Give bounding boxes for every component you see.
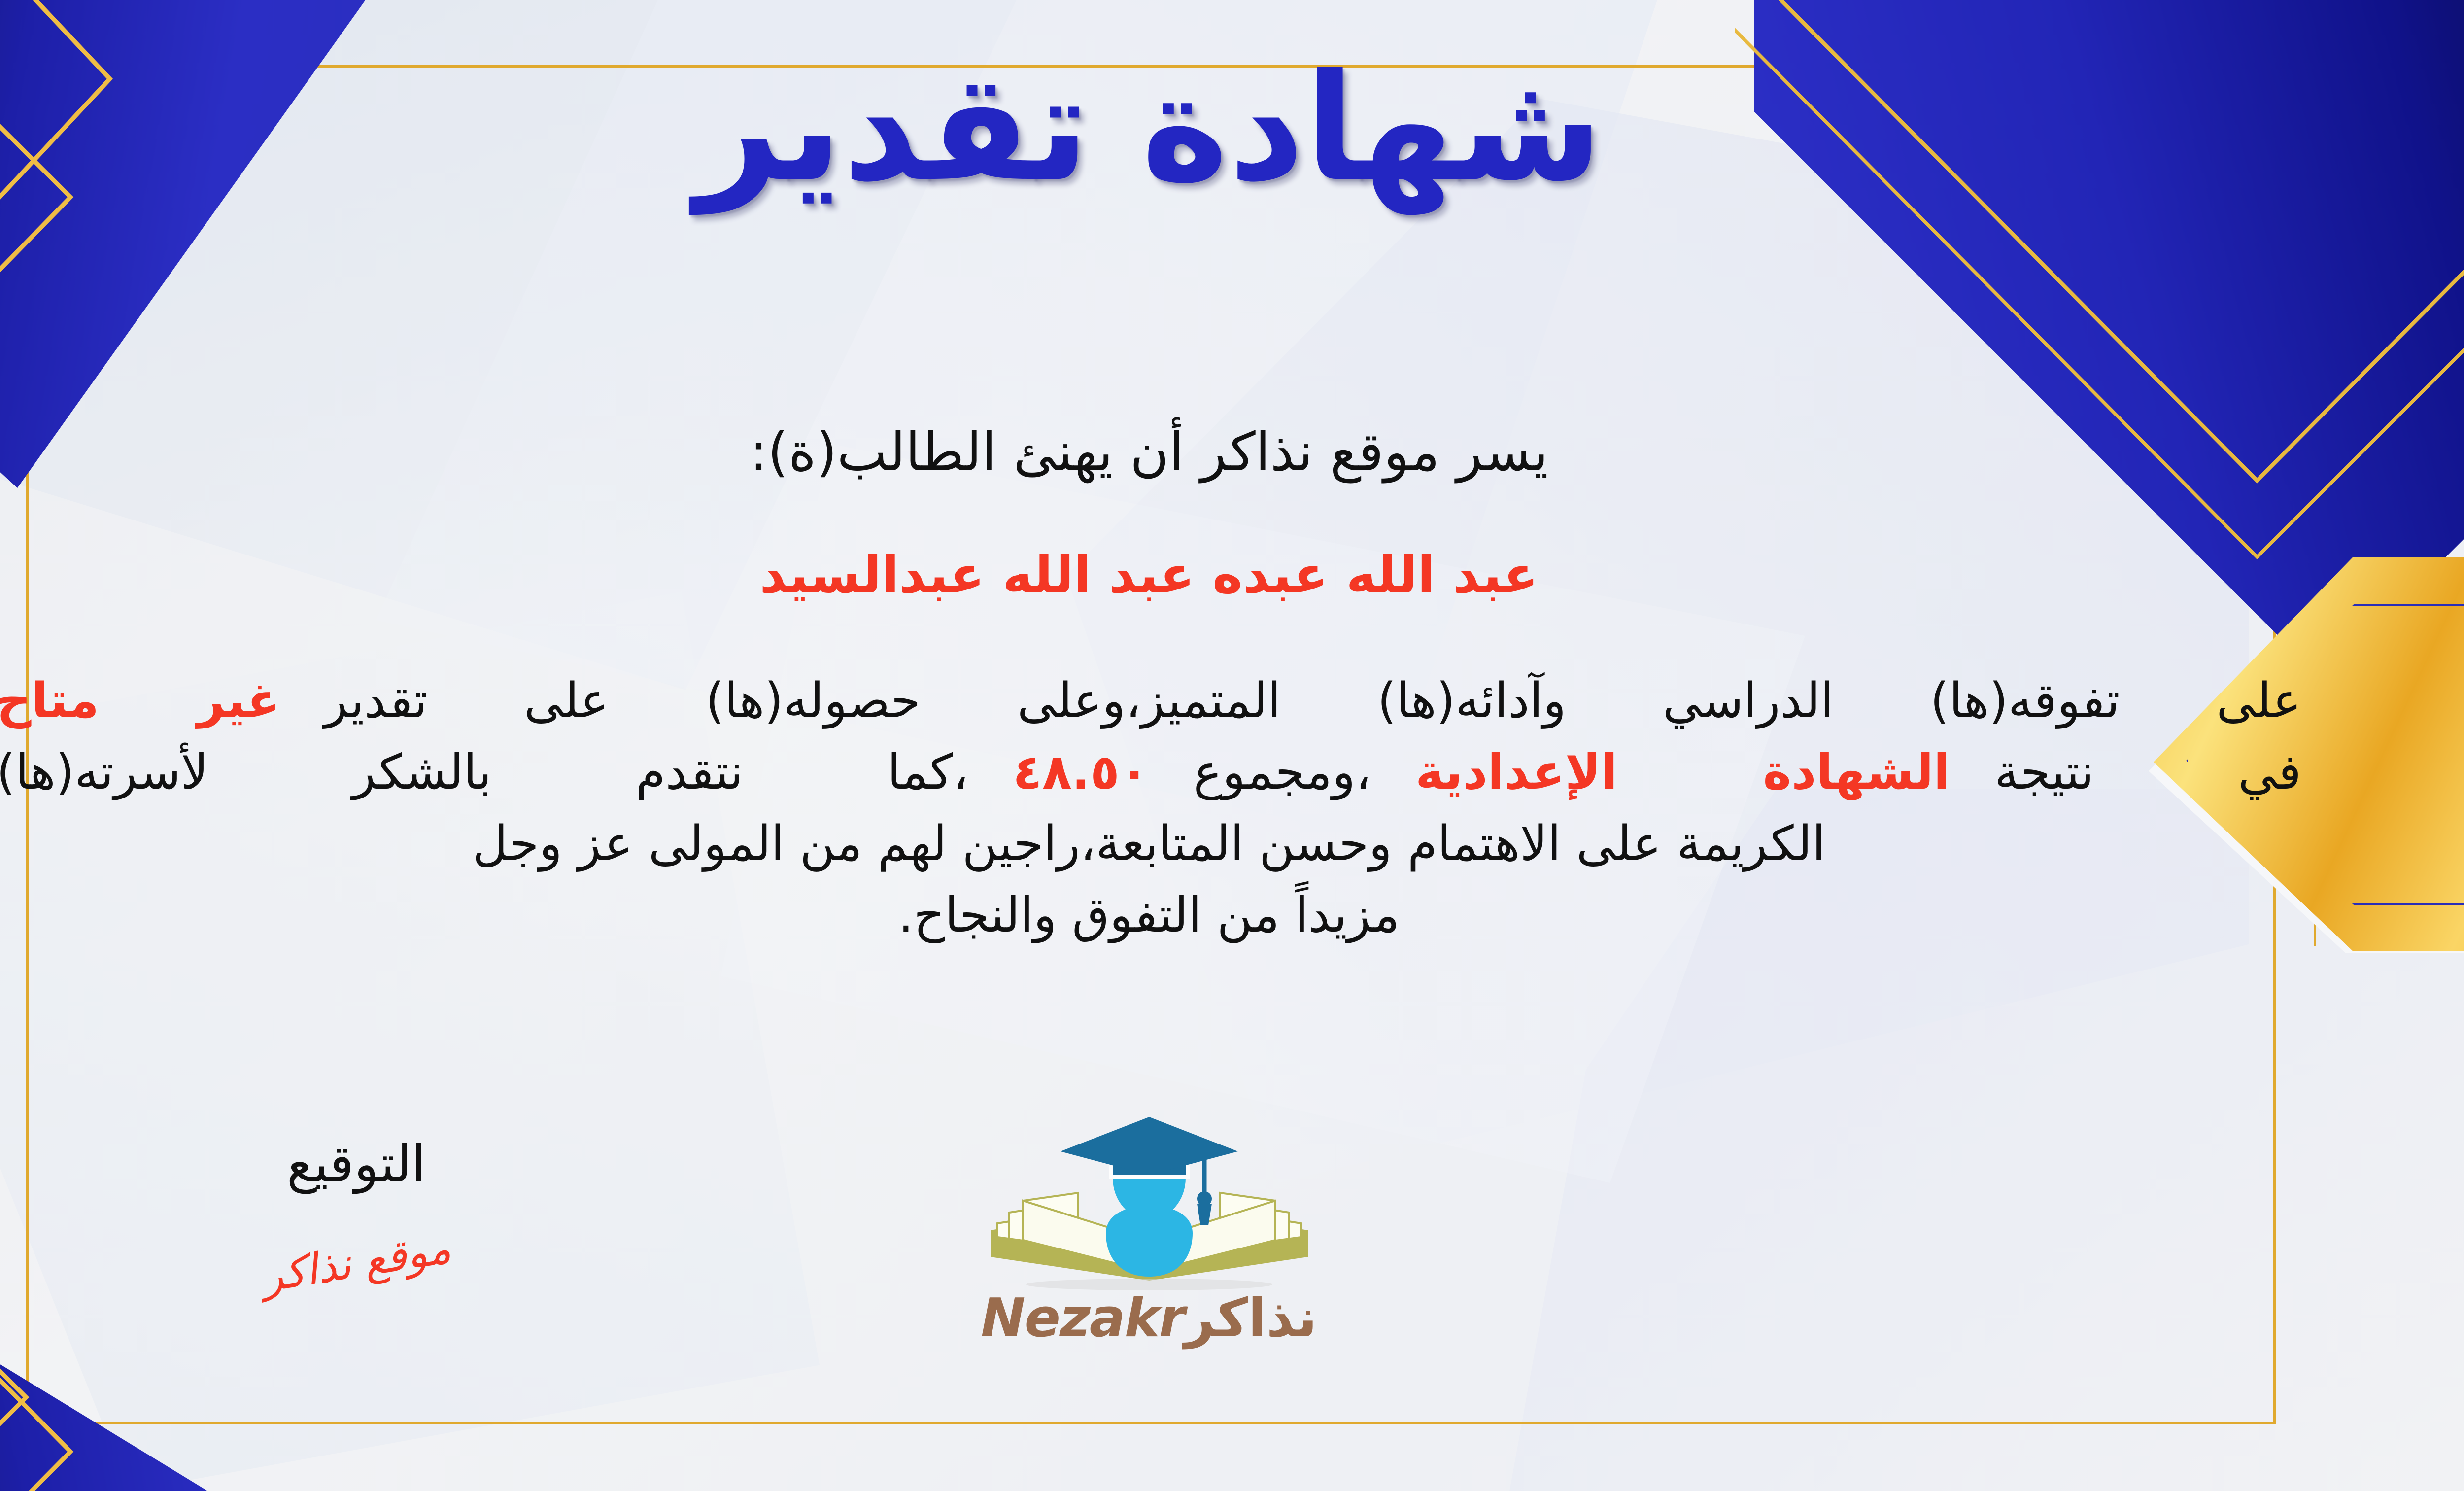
student-name: عبد الله عبده عبد الله عبدالسيد <box>0 545 2464 605</box>
certificate-content: شهادة تقدير يسر موقع نذاكر أن يهنئ الطال… <box>0 0 2464 1491</box>
grade-value: غير متاح <box>0 673 280 729</box>
body-line-3: على تفوقه(ها) الدراسي وآدائه(ها) المتميز… <box>0 665 2301 737</box>
logo-arabic-text: نذاكر <box>1184 1287 1317 1349</box>
signature-block: التوقيع موقع نذاكر <box>199 1134 514 1287</box>
logo-wordmark: نذاكرNezakr <box>962 1287 1336 1349</box>
site-logo: نذاكرNezakr <box>962 1109 1336 1349</box>
body-line-4-mid: ،ومجموع <box>1194 744 1371 800</box>
signature-script: موقع نذاكر <box>259 1223 454 1302</box>
body-line-4-prefix: في نتيجة <box>1994 744 2301 800</box>
intro-line: يسر موقع نذاكر أن يهنئ الطالب(ة): <box>0 421 2464 483</box>
certificate-body: على تفوقه(ها) الدراسي وآدائه(ها) المتميز… <box>0 665 2301 951</box>
body-line-3-text: على تفوقه(ها) الدراسي وآدائه(ها) المتميز… <box>324 673 2301 729</box>
graduate-book-logo-icon <box>962 1109 1336 1296</box>
certificate-page: شهادة تقدير يسر موقع نذاكر أن يهنئ الطال… <box>0 0 2464 1491</box>
body-line-5: الكريمة على الاهتمام وحسن المتابعة،راجين… <box>0 808 2301 880</box>
signature-label: التوقيع <box>199 1134 514 1194</box>
total-score: ٤٨.٥٠ <box>1013 744 1149 800</box>
certificate-stage: الشهادة الإعدادية <box>1415 744 1950 800</box>
logo-latin-text: Nezakr <box>981 1287 1184 1349</box>
body-line-4-suffix: ،كما نتقدم بالشكر لأسرته(ها) <box>0 744 968 800</box>
certificate-title: شهادة تقدير <box>0 54 2464 202</box>
body-line-4: في نتيجةالشهادة الإعدادية،ومجموع٤٨.٥٠،كم… <box>0 737 2301 808</box>
body-line-6: مزيداً من التفوق والنجاح. <box>0 880 2301 951</box>
